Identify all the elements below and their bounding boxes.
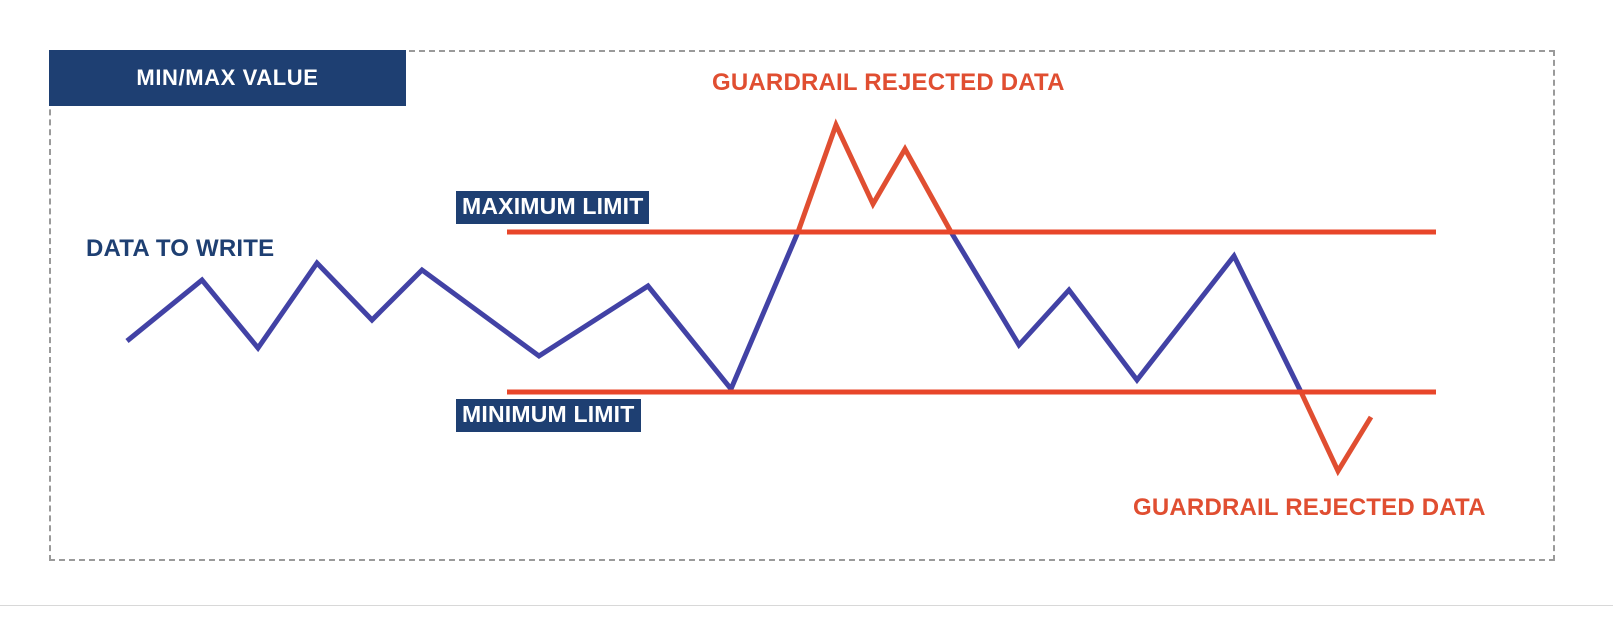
data-to-write-label: DATA TO WRITE	[86, 237, 274, 261]
guardrail-rejected-data-top-label: GUARDRAIL REJECTED DATA	[712, 71, 1065, 95]
guardrail-rejected-data-bottom-label: GUARDRAIL REJECTED DATA	[1133, 496, 1486, 520]
series-polyline-2	[951, 232, 1301, 392]
series-polyline-3	[1301, 392, 1371, 471]
series-polyline-1	[798, 125, 951, 232]
series-layer	[127, 125, 1371, 471]
min-max-value-header: MIN/MAX VALUE	[49, 50, 406, 106]
limit-lines-layer	[507, 232, 1436, 392]
bottom-divider	[0, 605, 1613, 606]
maximum-limit-label: MAXIMUM LIMIT	[456, 191, 649, 224]
guardrail-diagram: MIN/MAX VALUE MAXIMUM LIMIT MINIMUM LIMI…	[0, 0, 1613, 619]
minimum-limit-label: MINIMUM LIMIT	[456, 399, 641, 432]
